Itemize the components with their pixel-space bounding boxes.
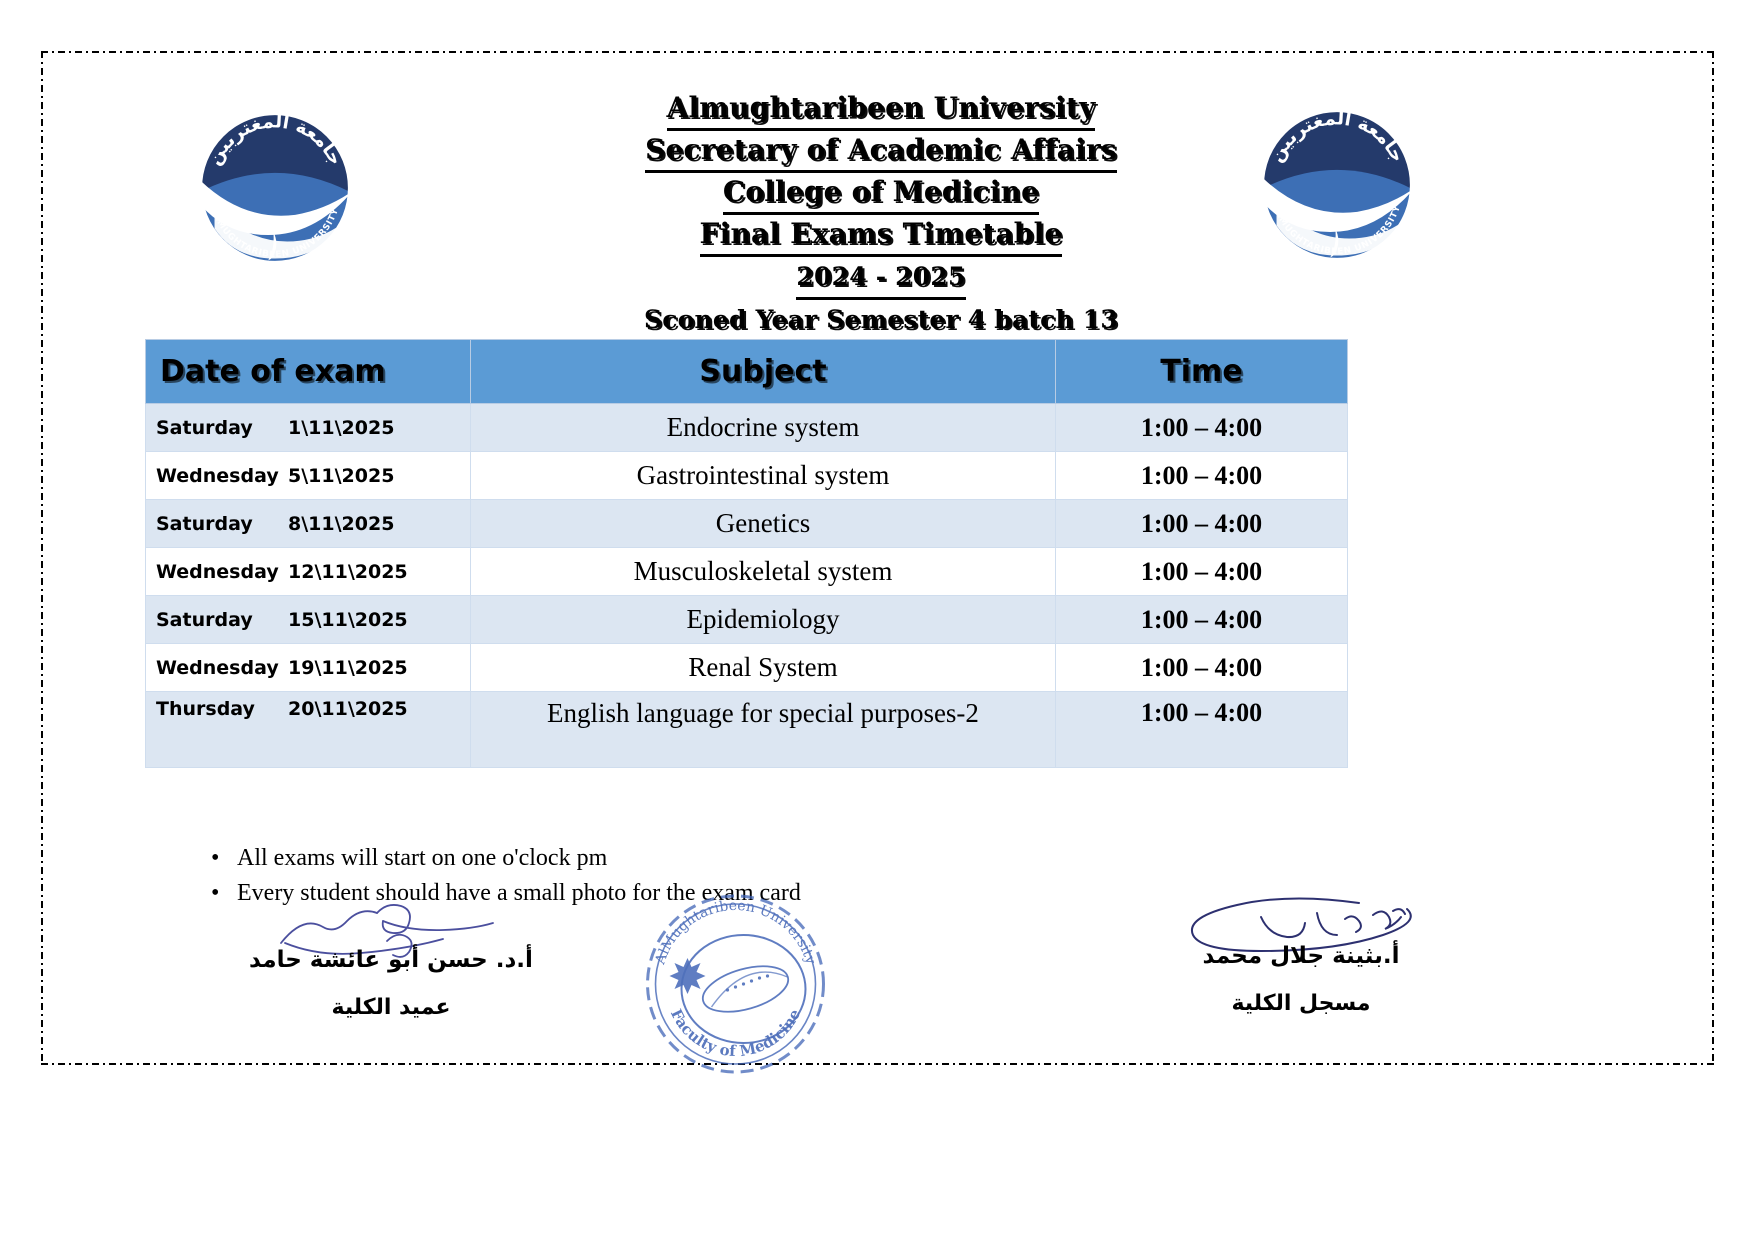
exam-date: 1\11\2025 [288,417,394,439]
cell-time: 1:00 – 4:00 [1056,548,1348,596]
exam-day: Thursday [156,698,288,720]
cell-subject: Genetics [471,500,1056,548]
cell-date: Saturday15\11\2025 [146,596,471,644]
cell-time: 1:00 – 4:00 [1056,596,1348,644]
table-row: Saturday8\11\2025 Genetics 1:00 – 4:00 [146,500,1348,548]
exam-day: Wednesday [156,465,288,487]
registrar-name: أ.بثينة جلال محمد [1121,943,1481,969]
heading-line-secretary: Secretary of Academic Affairs [401,131,1361,173]
exam-date: 8\11\2025 [288,513,394,535]
cell-date: Saturday1\11\2025 [146,404,471,452]
signature-block-registrar: أ.بثينة جلال محمد مسجل الكلية [1121,893,1481,1016]
table-row: Wednesday12\11\2025 Musculoskeletal syst… [146,548,1348,596]
signature-block-dean: أ.د. حسن أبو عائشة حامد عميد الكلية [211,897,571,1020]
table-row: Thursday20\11\2025 English language for … [146,692,1348,768]
bullet-icon: • [211,841,219,876]
table-header-row: Date of exam Subject Time [146,340,1348,404]
cell-date: Wednesday12\11\2025 [146,548,471,596]
exam-day: Wednesday [156,561,288,583]
dean-title: عميد الكلية [211,995,571,1020]
document-page: جامعة المغتربين ALMUGHTARIBEEN UNIVERSIT… [41,51,1714,1065]
university-logo-left: جامعة المغتربين ALMUGHTARIBEEN UNIVERSIT… [186,104,364,272]
registrar-title: مسجل الكلية [1121,991,1481,1016]
exam-date: 12\11\2025 [288,561,408,583]
table-row: Wednesday19\11\2025 Renal System 1:00 – … [146,644,1348,692]
exam-timetable: Date of exam Subject Time Saturday1\11\2… [145,339,1348,768]
exam-day: Saturday [156,417,288,439]
exam-date: 5\11\2025 [288,465,394,487]
exam-date: 15\11\2025 [288,609,408,631]
cell-date: Saturday8\11\2025 [146,500,471,548]
cell-subject: English language for special purposes-2 [471,692,1056,768]
exam-date: 20\11\2025 [288,698,408,720]
table-row: Saturday15\11\2025 Epidemiology 1:00 – 4… [146,596,1348,644]
cell-subject: Renal System [471,644,1056,692]
note-item: • All exams will start on one o'clock pm [191,841,1091,876]
cell-date: Thursday20\11\2025 [146,692,471,768]
cell-time: 1:00 – 4:00 [1056,644,1348,692]
cell-date: Wednesday19\11\2025 [146,644,471,692]
heading-line-semester: Sconed Year Semester 4 batch 13 [401,300,1361,343]
cell-time: 1:00 – 4:00 [1056,452,1348,500]
document-heading: Almughtaribeen University Secretary of A… [401,89,1361,343]
heading-line-year: 2024 - 2025 [401,257,1361,300]
cell-date: Wednesday5\11\2025 [146,452,471,500]
dean-name: أ.د. حسن أبو عائشة حامد [211,947,571,973]
heading-line-college: College of Medicine [401,173,1361,215]
exam-timetable-container: Date of exam Subject Time Saturday1\11\2… [145,339,1347,768]
cell-subject: Epidemiology [471,596,1056,644]
table-row: Saturday1\11\2025 Endocrine system 1:00 … [146,404,1348,452]
exam-day: Saturday [156,609,288,631]
cell-subject: Gastrointestinal system [471,452,1056,500]
cell-time: 1:00 – 4:00 [1056,500,1348,548]
heading-line-university: Almughtaribeen University [401,89,1361,131]
cell-subject: Musculoskeletal system [471,548,1056,596]
note-text: All exams will start on one o'clock pm [237,845,607,871]
cell-subject: Endocrine system [471,404,1056,452]
cell-time: 1:00 – 4:00 [1056,404,1348,452]
heading-line-timetable: Final Exams Timetable [401,215,1361,257]
exam-day: Saturday [156,513,288,535]
table-row: Wednesday5\11\2025 Gastrointestinal syst… [146,452,1348,500]
exam-date: 19\11\2025 [288,657,408,679]
column-header-subject: Subject [471,340,1056,404]
cell-time: 1:00 – 4:00 [1056,692,1348,768]
column-header-time: Time [1056,340,1348,404]
exam-day: Wednesday [156,657,288,679]
faculty-of-medicine-stamp: AlMughtaribeen University Faculty of Med… [633,889,838,1079]
column-header-date: Date of exam [146,340,471,404]
